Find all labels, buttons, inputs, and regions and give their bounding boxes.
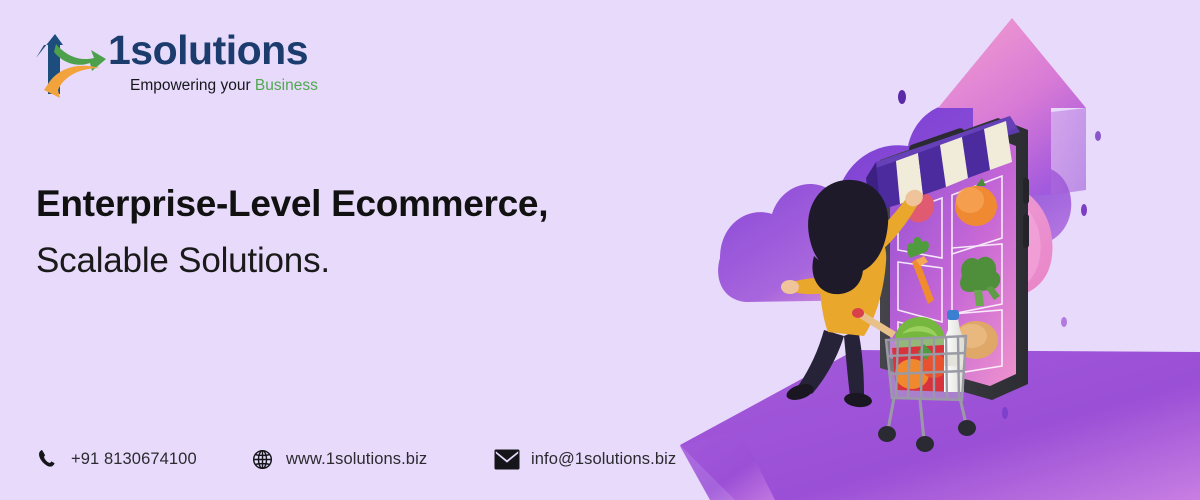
contact-phone[interactable]: +91 8130674100	[34, 446, 249, 472]
logo-tagline: Empowering your Business	[130, 77, 318, 94]
headline-block: Enterprise-Level Ecommerce, Scalable Sol…	[36, 182, 676, 281]
phone-handset-icon	[34, 446, 60, 472]
contact-bar: +91 8130674100 www.1solutions.biz	[34, 446, 676, 472]
website-url: www.1solutions.biz	[286, 450, 427, 469]
logo-wordmark: 1solutions	[108, 30, 318, 71]
ecommerce-banner: 1solutions Empowering your Business Ente…	[0, 0, 1200, 500]
1solutions-arrows-logo-icon	[30, 28, 110, 100]
envelope-icon	[494, 446, 520, 472]
tagline-plain: Empowering your	[130, 77, 251, 94]
globe-icon	[249, 446, 275, 472]
tagline-accent: Business	[255, 77, 318, 94]
ecommerce-mobile-shopping-illustration	[680, 0, 1200, 500]
contact-email[interactable]: info@1solutions.biz	[494, 446, 676, 472]
headline-line-2: Scalable Solutions.	[36, 240, 676, 281]
headline-line-1: Enterprise-Level Ecommerce,	[36, 182, 676, 226]
contact-website[interactable]: www.1solutions.biz	[249, 446, 494, 472]
email-address: info@1solutions.biz	[531, 450, 676, 469]
logo-text: 1solutions Empowering your Business	[108, 30, 318, 94]
phone-number: +91 8130674100	[71, 450, 197, 469]
brand-logo[interactable]: 1solutions Empowering your Business	[30, 26, 330, 111]
